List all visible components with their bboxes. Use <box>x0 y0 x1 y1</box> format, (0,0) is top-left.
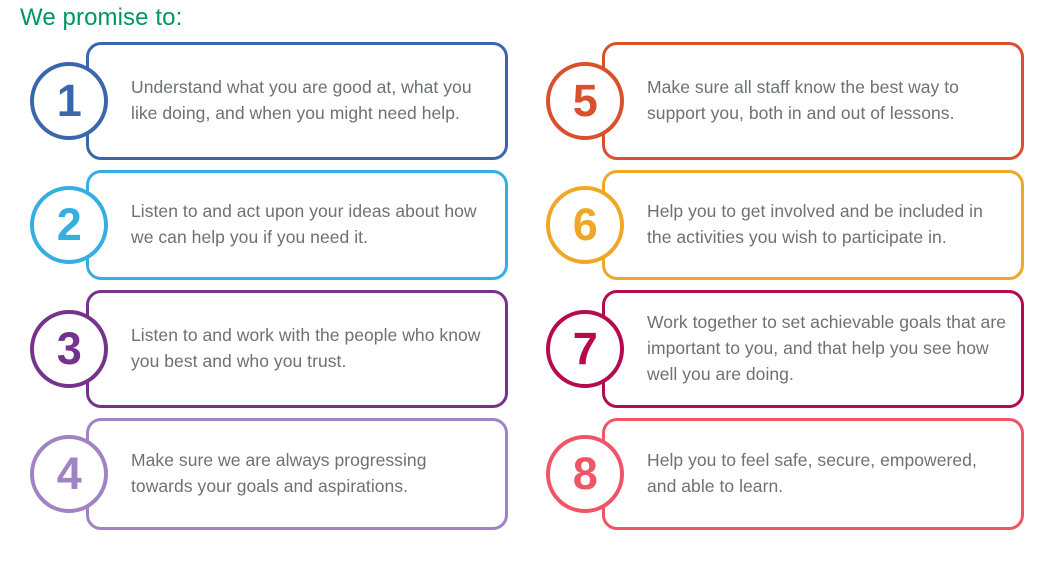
promise-card-7: Work together to set achievable goals th… <box>602 290 1024 408</box>
promise-grid: 1 Understand what you are good at, what … <box>0 42 1053 557</box>
promise-text-7: Work together to set achievable goals th… <box>647 310 1007 387</box>
page-title: We promise to: <box>20 4 182 32</box>
promise-text-2: Listen to and act upon your ideas about … <box>131 199 491 250</box>
promise-card-8: Help you to feel safe, secure, empowered… <box>602 418 1024 530</box>
promise-number-badge-8: 8 <box>546 435 624 513</box>
promise-number-badge-7: 7 <box>546 310 624 388</box>
promise-text-5: Make sure all staff know the best way to… <box>647 75 1007 126</box>
promise-card-1: Understand what you are good at, what yo… <box>86 42 508 160</box>
promise-item-5: 5 Make sure all staff know the best way … <box>546 42 1024 160</box>
promise-item-7: 7 Work together to set achievable goals … <box>546 290 1024 408</box>
promise-item-3: 3 Listen to and work with the people who… <box>30 290 508 408</box>
promise-number-badge-2: 2 <box>30 186 108 264</box>
promise-card-2: Listen to and act upon your ideas about … <box>86 170 508 280</box>
promise-column-left: 1 Understand what you are good at, what … <box>30 42 530 557</box>
promise-card-5: Make sure all staff know the best way to… <box>602 42 1024 160</box>
promise-number-4: 4 <box>57 451 82 496</box>
promise-number-2: 2 <box>57 202 82 247</box>
promise-number-badge-4: 4 <box>30 435 108 513</box>
promise-text-1: Understand what you are good at, what yo… <box>131 75 491 126</box>
promise-number-badge-1: 1 <box>30 62 108 140</box>
promise-number-8: 8 <box>573 451 598 496</box>
promise-number-badge-3: 3 <box>30 310 108 388</box>
promise-number-6: 6 <box>573 202 598 247</box>
promise-card-6: Help you to get involved and be included… <box>602 170 1024 280</box>
promise-item-8: 8 Help you to feel safe, secure, empower… <box>546 418 1024 530</box>
promise-card-3: Listen to and work with the people who k… <box>86 290 508 408</box>
promise-item-2: 2 Listen to and act upon your ideas abou… <box>30 170 508 280</box>
promise-number-1: 1 <box>57 78 82 123</box>
promise-item-4: 4 Make sure we are always progressing to… <box>30 418 508 530</box>
promise-number-badge-5: 5 <box>546 62 624 140</box>
promise-card-4: Make sure we are always progressing towa… <box>86 418 508 530</box>
promise-text-6: Help you to get involved and be included… <box>647 199 1007 250</box>
promise-number-7: 7 <box>573 326 598 371</box>
infographic-canvas: We promise to: 1 Understand what you are… <box>0 0 1053 561</box>
promise-text-8: Help you to feel safe, secure, empowered… <box>647 448 1007 499</box>
promise-item-6: 6 Help you to get involved and be includ… <box>546 170 1024 280</box>
promise-item-1: 1 Understand what you are good at, what … <box>30 42 508 160</box>
promise-number-5: 5 <box>573 78 598 123</box>
promise-text-4: Make sure we are always progressing towa… <box>131 448 491 499</box>
promise-number-3: 3 <box>57 326 82 371</box>
promise-number-badge-6: 6 <box>546 186 624 264</box>
promise-column-right: 5 Make sure all staff know the best way … <box>546 42 1046 557</box>
promise-text-3: Listen to and work with the people who k… <box>131 323 491 374</box>
